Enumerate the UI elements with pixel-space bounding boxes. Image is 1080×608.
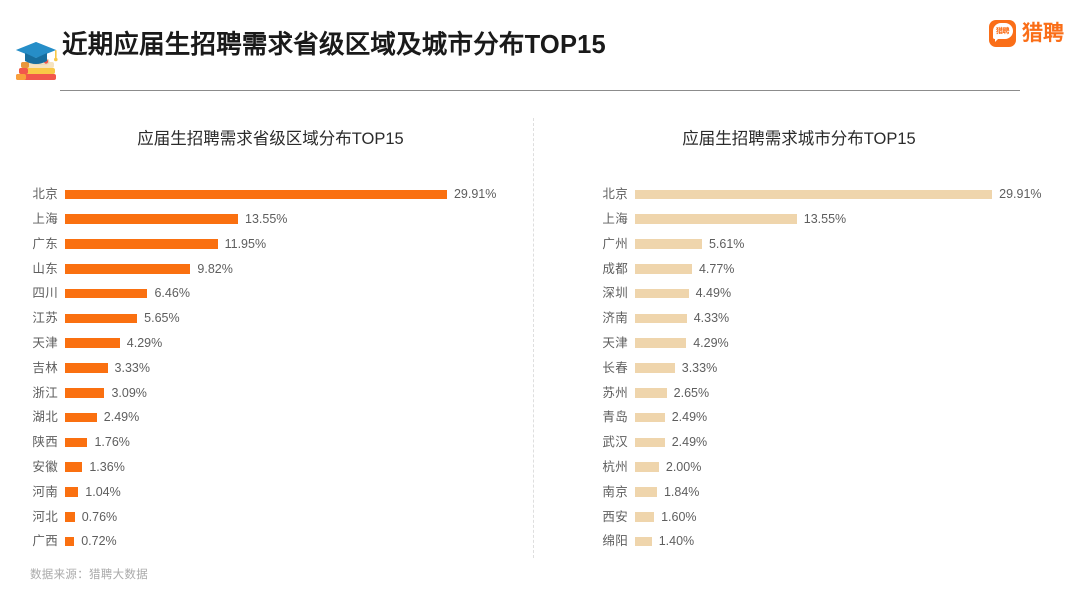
city-row: 济南4.33% <box>546 306 1080 331</box>
city-bar-wrap: 2.49% <box>635 436 1080 449</box>
city-bar <box>635 363 675 373</box>
city-value-label: 3.33% <box>682 362 717 375</box>
province-value-label: 1.76% <box>94 436 129 449</box>
province-category-label: 四川 <box>0 287 58 300</box>
city-category-label: 广州 <box>546 238 628 251</box>
city-bar-wrap: 29.91% <box>635 188 1080 201</box>
city-bar-wrap: 2.00% <box>635 461 1080 474</box>
province-row: 广西0.72% <box>0 529 533 554</box>
city-category-label: 成都 <box>546 263 628 276</box>
city-category-label: 西安 <box>546 511 628 524</box>
province-bar <box>65 512 75 522</box>
province-bar-wrap: 13.55% <box>65 213 533 226</box>
city-category-label: 天津 <box>546 337 628 350</box>
city-bar <box>635 239 702 249</box>
city-bar <box>635 438 665 448</box>
city-row: 绵阳1.40% <box>546 529 1080 554</box>
city-bar <box>635 289 689 299</box>
page-title: 近期应届生招聘需求省级区域及城市分布TOP15 <box>62 28 606 62</box>
city-category-label: 深圳 <box>546 287 628 300</box>
province-bar-wrap: 5.65% <box>65 312 533 325</box>
city-bar-wrap: 2.65% <box>635 387 1080 400</box>
province-bar-wrap: 29.91% <box>65 188 533 201</box>
city-value-label: 1.84% <box>664 486 699 499</box>
province-value-label: 29.91% <box>454 188 496 201</box>
city-value-label: 2.65% <box>674 387 709 400</box>
province-value-label: 9.82% <box>197 263 232 276</box>
province-bar-wrap: 3.09% <box>65 387 533 400</box>
speech-bubble-icon: 猎聘 <box>993 23 1013 39</box>
city-value-label: 4.29% <box>693 337 728 350</box>
province-value-label: 0.76% <box>82 511 117 524</box>
province-chart-title: 应届生招聘需求省级区域分布TOP15 <box>0 128 533 150</box>
city-row: 成都4.77% <box>546 256 1080 281</box>
province-bar <box>65 537 74 547</box>
province-row: 上海13.55% <box>0 207 533 232</box>
city-value-label: 2.49% <box>672 436 707 449</box>
city-row: 长春3.33% <box>546 356 1080 381</box>
city-category-label: 南京 <box>546 486 628 499</box>
city-value-label: 1.40% <box>659 535 694 548</box>
province-bar <box>65 338 120 348</box>
province-bar-wrap: 4.29% <box>65 337 533 350</box>
province-bar-wrap: 1.76% <box>65 436 533 449</box>
province-bar-wrap: 3.33% <box>65 362 533 375</box>
province-row: 四川6.46% <box>0 281 533 306</box>
graduation-cap-books-icon <box>12 38 60 84</box>
city-bar <box>635 413 665 423</box>
city-row: 西安1.60% <box>546 504 1080 529</box>
province-category-label: 江苏 <box>0 312 58 325</box>
city-bar-wrap: 1.40% <box>635 535 1080 548</box>
city-bar-wrap: 1.60% <box>635 511 1080 524</box>
province-row: 陕西1.76% <box>0 430 533 455</box>
province-row: 河北0.76% <box>0 504 533 529</box>
province-row: 吉林3.33% <box>0 356 533 381</box>
header-divider <box>60 90 1020 91</box>
province-value-label: 1.04% <box>85 486 120 499</box>
province-bar <box>65 487 78 497</box>
province-row: 安徽1.36% <box>0 455 533 480</box>
city-bar-wrap: 4.49% <box>635 287 1080 300</box>
province-bar <box>65 264 190 274</box>
city-bar <box>635 388 667 398</box>
city-bar-wrap: 4.77% <box>635 263 1080 276</box>
city-bar <box>635 214 797 224</box>
province-bar <box>65 314 137 324</box>
province-bar <box>65 239 218 249</box>
city-category-label: 青岛 <box>546 411 628 424</box>
province-bar <box>65 289 147 299</box>
province-row: 河南1.04% <box>0 480 533 505</box>
province-category-label: 山东 <box>0 263 58 276</box>
province-bar-wrap: 11.95% <box>65 238 533 251</box>
province-category-label: 北京 <box>0 188 58 201</box>
city-row: 南京1.84% <box>546 480 1080 505</box>
province-row: 湖北2.49% <box>0 405 533 430</box>
city-category-label: 苏州 <box>546 387 628 400</box>
liepin-logo-mark-icon: 猎聘 <box>989 20 1016 47</box>
city-row: 北京29.91% <box>546 182 1080 207</box>
city-bar-wrap: 4.33% <box>635 312 1080 325</box>
city-row: 广州5.61% <box>546 232 1080 257</box>
province-bar <box>65 438 87 448</box>
city-row: 上海13.55% <box>546 207 1080 232</box>
province-row: 山东9.82% <box>0 256 533 281</box>
city-bar <box>635 537 652 547</box>
city-category-label: 上海 <box>546 213 628 226</box>
city-bar <box>635 487 657 497</box>
province-bar-wrap: 6.46% <box>65 287 533 300</box>
city-value-label: 13.55% <box>804 213 846 226</box>
province-value-label: 1.36% <box>89 461 124 474</box>
city-value-label: 5.61% <box>709 238 744 251</box>
city-value-label: 29.91% <box>999 188 1041 201</box>
province-category-label: 安徽 <box>0 461 58 474</box>
city-row: 苏州2.65% <box>546 380 1080 405</box>
city-bar-wrap: 3.33% <box>635 362 1080 375</box>
province-value-label: 13.55% <box>245 213 287 226</box>
city-category-label: 武汉 <box>546 436 628 449</box>
province-bar-wrap: 1.04% <box>65 486 533 499</box>
city-category-label: 济南 <box>546 312 628 325</box>
city-row: 武汉2.49% <box>546 430 1080 455</box>
city-chart-panel: 应届生招聘需求城市分布TOP15 北京29.91%上海13.55%广州5.61%… <box>546 110 1080 580</box>
city-value-label: 2.00% <box>666 461 701 474</box>
province-bar-wrap: 1.36% <box>65 461 533 474</box>
city-bar-wrap: 1.84% <box>635 486 1080 499</box>
city-row: 天津4.29% <box>546 331 1080 356</box>
city-value-label: 4.77% <box>699 263 734 276</box>
province-bar <box>65 190 447 200</box>
province-value-label: 11.95% <box>225 238 266 251</box>
city-value-label: 4.49% <box>696 287 731 300</box>
province-category-label: 广西 <box>0 535 58 548</box>
province-bar <box>65 363 108 373</box>
province-bar <box>65 462 82 472</box>
city-bar-wrap: 5.61% <box>635 238 1080 251</box>
province-row: 广东11.95% <box>0 232 533 257</box>
city-category-label: 北京 <box>546 188 628 201</box>
city-category-label: 绵阳 <box>546 535 628 548</box>
city-bar <box>635 512 654 522</box>
province-bar-wrap: 2.49% <box>65 411 533 424</box>
province-category-label: 吉林 <box>0 362 58 375</box>
page-header: 近期应届生招聘需求省级区域及城市分布TOP15 猎聘 猎聘 <box>0 0 1080 92</box>
city-category-label: 长春 <box>546 362 628 375</box>
city-bar-wrap: 13.55% <box>635 213 1080 226</box>
province-value-label: 6.46% <box>154 287 189 300</box>
province-value-label: 0.72% <box>81 535 116 548</box>
province-bar-wrap: 9.82% <box>65 263 533 276</box>
province-row: 北京29.91% <box>0 182 533 207</box>
province-bar-wrap: 0.76% <box>65 511 533 524</box>
province-row: 浙江3.09% <box>0 380 533 405</box>
province-category-label: 陕西 <box>0 436 58 449</box>
province-category-label: 河北 <box>0 511 58 524</box>
brand-name: 猎聘 <box>1022 23 1064 44</box>
panel-divider <box>533 118 534 558</box>
province-chart-panel: 应届生招聘需求省级区域分布TOP15 北京29.91%上海13.55%广东11.… <box>0 110 533 580</box>
city-bar-wrap: 2.49% <box>635 411 1080 424</box>
city-chart-rows: 北京29.91%上海13.55%广州5.61%成都4.77%深圳4.49%济南4… <box>546 182 1080 554</box>
province-row: 江苏5.65% <box>0 306 533 331</box>
province-bar-wrap: 0.72% <box>65 535 533 548</box>
province-category-label: 广东 <box>0 238 58 251</box>
city-row: 深圳4.49% <box>546 281 1080 306</box>
province-value-label: 3.09% <box>111 387 146 400</box>
province-value-label: 4.29% <box>127 337 162 350</box>
city-bar <box>635 264 692 274</box>
province-value-label: 3.33% <box>115 362 150 375</box>
province-chart-rows: 北京29.91%上海13.55%广东11.95%山东9.82%四川6.46%江苏… <box>0 182 533 554</box>
city-bar <box>635 190 992 200</box>
city-bar <box>635 338 686 348</box>
province-bar <box>65 214 238 224</box>
city-row: 青岛2.49% <box>546 405 1080 430</box>
city-category-label: 杭州 <box>546 461 628 474</box>
province-bar <box>65 413 97 423</box>
city-value-label: 1.60% <box>661 511 696 524</box>
province-value-label: 5.65% <box>144 312 179 325</box>
city-bar <box>635 314 687 324</box>
province-category-label: 浙江 <box>0 387 58 400</box>
data-source-note: 数据来源：猎聘大数据 <box>30 570 148 582</box>
province-value-label: 2.49% <box>104 411 139 424</box>
city-value-label: 4.33% <box>694 312 729 325</box>
province-bar <box>65 388 104 398</box>
province-category-label: 湖北 <box>0 411 58 424</box>
brand-logo: 猎聘 猎聘 <box>989 18 1064 48</box>
city-chart-title: 应届生招聘需求城市分布TOP15 <box>546 128 1080 150</box>
province-category-label: 河南 <box>0 486 58 499</box>
province-category-label: 上海 <box>0 213 58 226</box>
city-bar-wrap: 4.29% <box>635 337 1080 350</box>
city-bar <box>635 462 659 472</box>
city-value-label: 2.49% <box>672 411 707 424</box>
city-row: 杭州2.00% <box>546 455 1080 480</box>
province-row: 天津4.29% <box>0 331 533 356</box>
province-category-label: 天津 <box>0 337 58 350</box>
